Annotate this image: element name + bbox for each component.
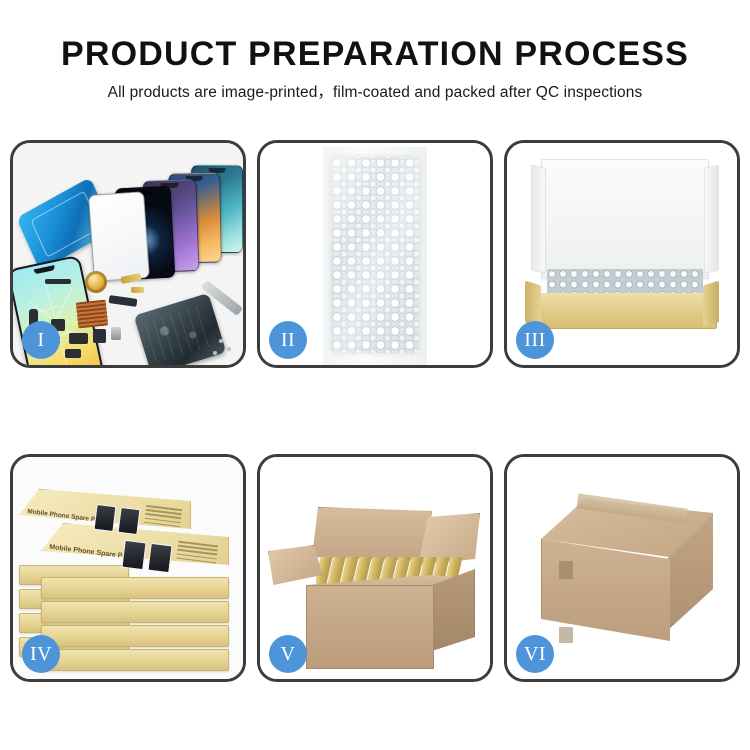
infographic-page: PRODUCT PREPARATION PROCESS All products… [0,0,750,750]
spare-part [111,327,121,340]
step-numeral: III [524,330,545,350]
screw-part [219,339,223,343]
box-artwork-screen [93,504,116,532]
page-title: PRODUCT PREPARATION PROCESS [0,34,750,74]
retail-box [41,577,229,599]
retail-box [41,625,229,647]
box-lid-flap [541,159,709,279]
step-badge-6: VI [516,635,554,673]
process-step-2: II [257,140,493,368]
box-artwork-bullets [176,541,218,567]
step-numeral: IV [30,644,52,664]
page-subtitle: All products are image-printed，film-coat… [0,83,750,103]
spare-part [45,279,71,284]
box-artwork-bullets [144,505,182,530]
step-badge-4: IV [22,635,60,673]
mailer-box-front [535,293,715,327]
mailer-box-right-lip [703,281,719,328]
box-artwork-screen [147,543,172,573]
gold-coil-part [85,271,107,293]
spare-part [65,349,81,358]
carton-seam-tab [559,561,573,579]
step-numeral: VI [524,644,546,664]
copper-mesh-part [76,300,109,329]
process-step-4: Mobile Phone Spare Parts Mobile Phone Sp… [10,454,246,682]
step-badge-3: III [516,321,554,359]
process-step-6: VI [504,454,740,682]
screw-part [227,347,231,351]
plastic-sheen [331,157,419,353]
step-numeral: I [37,330,44,350]
carton-back-flap [312,507,432,563]
spare-part [69,333,88,344]
bubble-wrap-pouch [331,157,419,353]
step-badge-5: V [269,635,307,673]
screw-part [213,351,217,355]
bubble-wrapped-contents [547,269,703,295]
step-badge-2: II [269,321,307,359]
box-artwork-screen [117,507,140,535]
step-numeral: II [281,330,295,350]
spare-part [93,329,106,343]
retail-box [41,601,229,623]
step-badge-1: I [22,321,60,359]
process-step-1: I [10,140,246,368]
carton-seam-tab [559,627,573,643]
process-step-3: III [504,140,740,368]
retail-box [41,649,229,671]
phone-screen-white [88,191,150,282]
box-artwork-screen [121,540,146,570]
step-numeral: V [281,644,296,664]
process-grid: I II [10,140,740,670]
carton-left-flap [268,545,322,587]
process-step-5: V [257,454,493,682]
carton-front-panel [306,585,434,669]
header: PRODUCT PREPARATION PROCESS All products… [0,0,750,103]
spare-part [131,287,144,293]
